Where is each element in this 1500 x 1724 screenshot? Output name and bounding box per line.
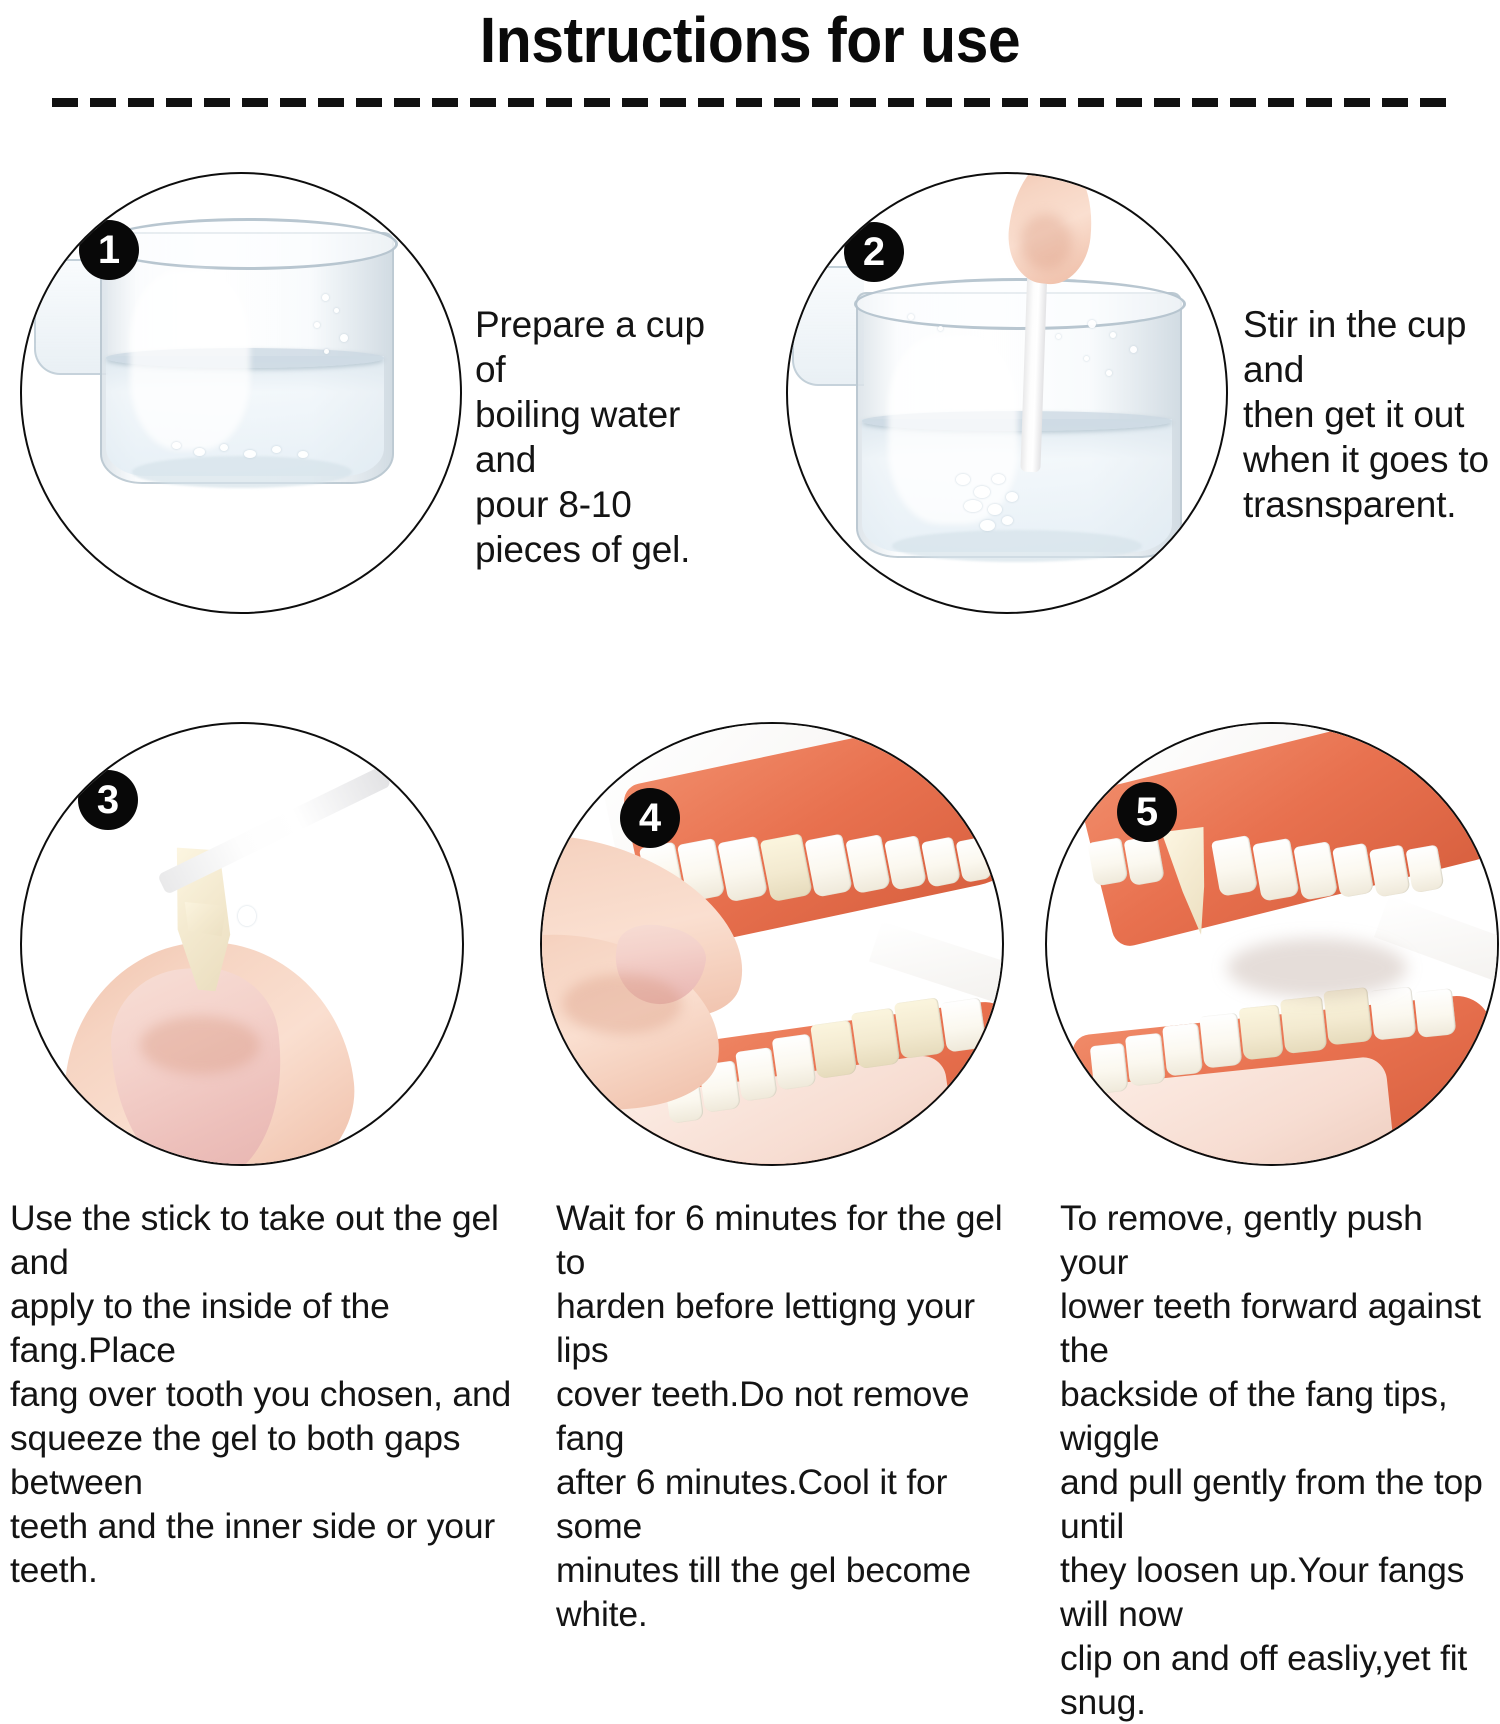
cup-rim	[98, 218, 398, 270]
glass-highlight	[130, 270, 250, 450]
tooth	[810, 1020, 857, 1079]
tooth	[1239, 1004, 1284, 1060]
cup-base	[892, 530, 1142, 562]
step-2-image: 2	[786, 172, 1228, 614]
tooth	[1199, 1013, 1242, 1069]
mouth-interior-shadow	[1227, 938, 1407, 998]
applicator-stick	[157, 766, 391, 895]
gel-piece	[992, 474, 1005, 484]
step-2-caption: Stir in the cup and then get it out when…	[1243, 302, 1500, 527]
bubble	[1130, 346, 1137, 353]
tooth	[884, 835, 927, 891]
tooth	[1087, 837, 1128, 886]
tooth	[1280, 996, 1327, 1054]
step-5-image: 5	[1045, 722, 1499, 1166]
step-4-image: 4	[540, 722, 1004, 1166]
bubble	[1088, 320, 1096, 328]
step-4-caption: Wait for 6 minutes for the gel to harden…	[556, 1196, 1026, 1636]
bubble	[298, 451, 308, 458]
cup-handle	[792, 266, 864, 386]
bubble	[322, 294, 329, 301]
step-1-badge: 1	[79, 220, 139, 280]
tooth	[851, 1008, 900, 1069]
gel-piece	[1006, 492, 1018, 502]
step-1-caption: Prepare a cup of boiling water and pour …	[475, 302, 735, 572]
gel-droplet	[238, 906, 256, 926]
bubble	[908, 314, 914, 320]
tooth	[940, 998, 987, 1053]
gel-piece	[980, 520, 995, 531]
tooth	[1125, 1033, 1166, 1086]
dashed-divider	[52, 98, 1456, 107]
bubble	[272, 446, 281, 453]
tooth	[1211, 835, 1258, 897]
tooth	[921, 837, 961, 888]
tooth	[1414, 988, 1457, 1038]
tooth	[894, 997, 945, 1059]
tooth	[735, 1047, 778, 1102]
step-5-caption: To remove, gently push your lower teeth …	[1060, 1196, 1500, 1724]
step-1-image: 1	[20, 172, 462, 614]
fang-fitted-on-teeth-model-scene	[1047, 724, 1497, 1164]
cup-rim	[854, 278, 1186, 330]
bubble	[244, 450, 256, 458]
gel-piece	[964, 500, 982, 512]
gel-piece	[1002, 516, 1013, 525]
step-2-badge: 2	[844, 222, 904, 282]
hand-shadow	[562, 974, 682, 1034]
bubble	[938, 326, 943, 331]
step-4-badge: 4	[620, 788, 680, 848]
tooth	[956, 836, 993, 883]
bubble	[1056, 334, 1061, 339]
tooth	[1369, 986, 1416, 1040]
bubble	[194, 448, 205, 456]
tooth	[1162, 1023, 1203, 1076]
bubble	[1110, 332, 1116, 338]
placing-fang-on-teeth-model-scene	[542, 724, 1002, 1164]
cup-base	[132, 456, 352, 488]
bubble	[1084, 356, 1089, 361]
bubble	[172, 442, 181, 449]
tooth	[772, 1034, 817, 1091]
step-3-caption: Use the stick to take out the gel and ap…	[10, 1196, 530, 1592]
tooth	[1293, 841, 1338, 900]
bubble	[324, 349, 329, 354]
step-5-badge: 5	[1117, 782, 1177, 842]
bubble	[340, 334, 348, 342]
page-title: Instructions for use	[60, 2, 1440, 78]
tooth	[1124, 835, 1165, 886]
bubble	[334, 308, 339, 313]
gel-piece	[988, 504, 1002, 515]
glass-highlight	[888, 334, 1018, 524]
tooth	[1369, 845, 1411, 898]
tooth	[1252, 838, 1299, 902]
bubble	[1106, 370, 1112, 376]
finger-shadow	[1020, 214, 1072, 270]
bubble	[314, 322, 320, 328]
tooth	[1405, 845, 1444, 894]
gel-piece	[974, 486, 990, 498]
step-3-image: 3	[20, 722, 464, 1166]
step-3-badge: 3	[78, 770, 138, 830]
tooth	[1332, 843, 1374, 898]
bubble	[220, 444, 228, 451]
nail-shadow	[140, 1016, 260, 1074]
tooth	[1090, 1043, 1129, 1094]
gel-piece	[956, 474, 970, 485]
